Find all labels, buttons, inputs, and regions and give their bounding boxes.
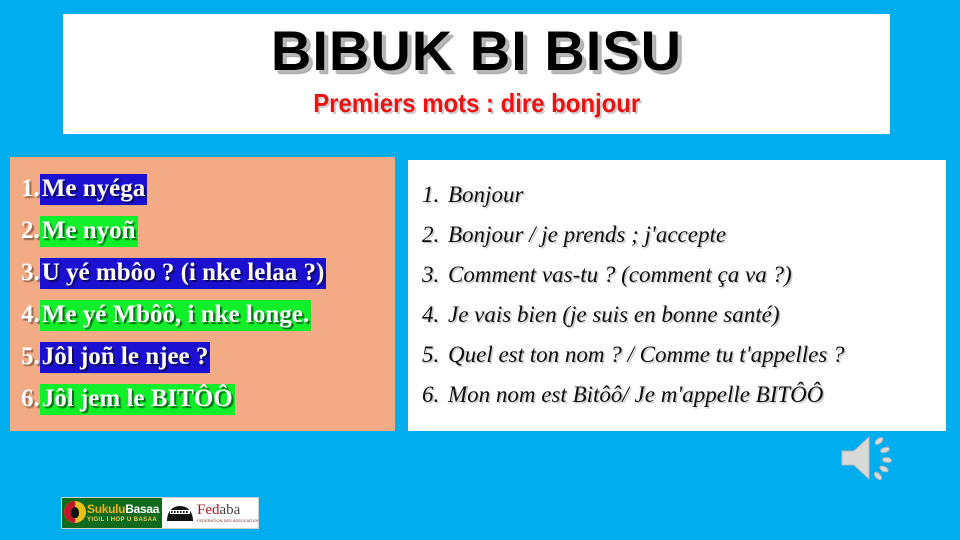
basaa-word-list-panel: 1. Me nyéga 2. Me nyoñ 3. U yé mbôo ? (i… xyxy=(10,157,395,431)
list-item: 2. Me nyoñ xyxy=(21,216,395,258)
footer-logo-strip: SukuluBasaa YIGIL I HOP U BASAA Fedaba xyxy=(61,497,259,529)
sukulu-word-part-1: Sukulu xyxy=(87,502,125,516)
list-item-label: Bonjour xyxy=(448,182,523,208)
speaker-sound-icon[interactable] xyxy=(838,432,902,484)
list-item-label: Me nyéga xyxy=(40,174,147,205)
list-item-number: 4. xyxy=(21,301,40,329)
sukulu-wordmark: SukuluBasaa xyxy=(87,503,162,516)
list-item: 5. Quel est ton nom ? / Comme tu t'appel… xyxy=(422,342,946,382)
list-item-label: Je vais bien (je suis en bonne santé) xyxy=(448,302,780,328)
list-item-number: 2. xyxy=(422,222,448,248)
fedaba-word-part-2: aba xyxy=(220,502,241,518)
list-item-number: 6. xyxy=(422,382,448,408)
list-item: 1. Me nyéga xyxy=(21,174,395,216)
list-item-label: Bonjour / je prends ; j'accepte xyxy=(448,222,726,248)
list-item-number: 4. xyxy=(422,302,448,328)
list-item-number: 3. xyxy=(21,259,40,287)
list-item-label: Me yé Mbôô, i nke longe. xyxy=(40,300,311,331)
list-item: 6. Mon nom est Bitôô/ Je m'appelle BITÔÔ xyxy=(422,382,946,422)
fedaba-wordmark: Fedaba xyxy=(197,503,258,518)
sukulu-word-part-2: Basaa xyxy=(125,502,159,516)
list-item: 4. Me yé Mbôô, i nke longe. xyxy=(21,300,395,342)
french-translation-panel: 1. Bonjour 2. Bonjour / je prends ; j'ac… xyxy=(408,160,946,431)
fedaba-hut-icon xyxy=(165,503,195,523)
list-item-number: 2. xyxy=(21,217,40,245)
list-item: 4. Je vais bien (je suis en bonne santé) xyxy=(422,302,946,342)
list-item-label: Mon nom est Bitôô/ Je m'appelle BITÔÔ xyxy=(448,382,823,408)
list-item: 1. Bonjour xyxy=(422,182,946,222)
fedaba-tagline: FEDERATION DES ASSOCIATIONS BAMILEKE - F… xyxy=(197,518,258,524)
list-item-number: 5. xyxy=(422,342,448,368)
list-item-label: Comment vas-tu ? (comment ça va ?) xyxy=(448,262,792,288)
sukulu-emblem-icon xyxy=(64,501,86,523)
list-item-label: Quel est ton nom ? / Comme tu t'appelles… xyxy=(448,342,845,368)
fedaba-logo: Fedaba FEDERATION DES ASSOCIATIONS BAMIL… xyxy=(162,498,258,528)
list-item: 6. Jôl jem le BITÔÔ xyxy=(21,384,395,426)
list-item-number: 1. xyxy=(422,182,448,208)
list-item: 3. U yé mbôo ? (i nke lelaa ?) xyxy=(21,258,395,300)
sukulu-basaa-logo: SukuluBasaa YIGIL I HOP U BASAA xyxy=(62,498,162,528)
slide-canvas: BIBUK BI BISU Premiers mots : dire bonjo… xyxy=(0,0,960,540)
list-item: 2. Bonjour / je prends ; j'accepte xyxy=(422,222,946,262)
sukulu-tagline: YIGIL I HOP U BASAA xyxy=(87,516,162,524)
list-item-label: Me nyoñ xyxy=(40,216,138,247)
list-item: 5. Jôl joñ le njee ? xyxy=(21,342,395,384)
list-item-number: 1. xyxy=(21,175,40,203)
list-item: 3. Comment vas-tu ? (comment ça va ?) xyxy=(422,262,946,302)
list-item-label: Jôl joñ le njee ? xyxy=(40,342,211,373)
page-title: BIBUK BI BISU xyxy=(271,14,682,88)
list-item-label: U yé mbôo ? (i nke lelaa ?) xyxy=(40,258,327,289)
title-card: BIBUK BI BISU Premiers mots : dire bonjo… xyxy=(63,14,890,134)
fedaba-word-part-1: Fed xyxy=(197,502,220,518)
list-item-number: 5. xyxy=(21,343,40,371)
list-item-number: 3. xyxy=(422,262,448,288)
list-item-label: Jôl jem le BITÔÔ xyxy=(40,384,235,415)
page-subtitle: Premiers mots : dire bonjour xyxy=(313,88,640,118)
list-item-number: 6. xyxy=(21,385,40,413)
